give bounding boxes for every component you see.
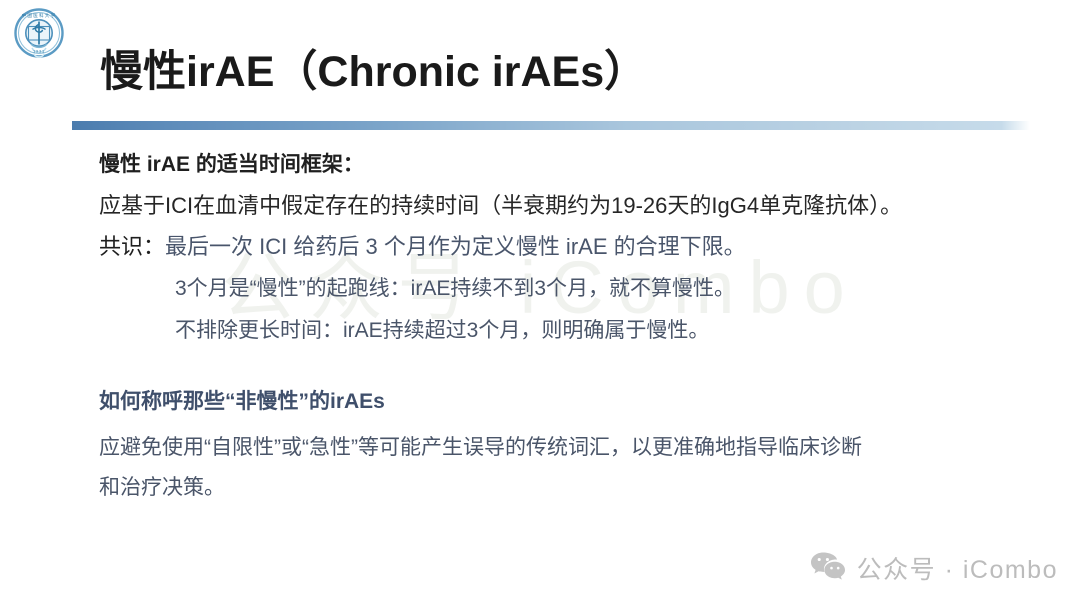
- section-two-paragraph-line-1: 应避免使用“自限性”或“急性”等可能产生误导的传统词汇，以更准确地指导临床诊断: [99, 428, 1029, 468]
- footer-watermark: 公众号 · iCombo: [810, 550, 1058, 586]
- wechat-icon: [810, 551, 846, 586]
- consensus-bullet-1: 3个月是“慢性”的起跑线：irAE持续不到3个月，就不算慢性。: [99, 268, 1029, 310]
- footer-watermark-text: 公众号 · iCombo: [857, 550, 1058, 586]
- title-divider: [72, 121, 1030, 130]
- consensus-label: 共识：: [99, 234, 165, 259]
- slide-body: 慢性 irAE 的适当时间框架： 应基于ICI在血清中假定存在的持续时间（半衰期…: [99, 148, 1029, 508]
- institution-logo-icon: 中国医科大学 1931: [8, 6, 70, 68]
- section-spacer: [99, 352, 1029, 385]
- section-one-paragraph: 应基于ICI在血清中假定存在的持续时间（半衰期约为19-26天的IgG4单克隆抗…: [99, 186, 1029, 226]
- section-one-heading: 慢性 irAE 的适当时间框架：: [99, 148, 1029, 182]
- slide-canvas: 公众号 iCombo 中国医科大学 1931 慢性irAE（Chronic ir…: [0, 0, 1080, 608]
- section-two-paragraph-line-2: 和治疗决策。: [99, 468, 1029, 508]
- consensus-bullet-2: 不排除更长时间：irAE持续超过3个月，则明确属于慢性。: [99, 310, 1029, 352]
- svg-text:1931: 1931: [33, 49, 45, 54]
- consensus-text: 最后一次 ICI 给药后 3 个月作为定义慢性 irAE 的合理下限。: [165, 234, 746, 259]
- consensus-line: 共识：最后一次 ICI 给药后 3 个月作为定义慢性 irAE 的合理下限。: [99, 226, 1029, 268]
- section-two-heading: 如何称呼那些“非慢性”的irAEs: [99, 385, 1029, 419]
- heading-spacer: [99, 419, 1029, 428]
- page-title: 慢性irAE（Chronic irAEs）: [100, 49, 647, 96]
- svg-text:中国医科大学: 中国医科大学: [22, 12, 57, 19]
